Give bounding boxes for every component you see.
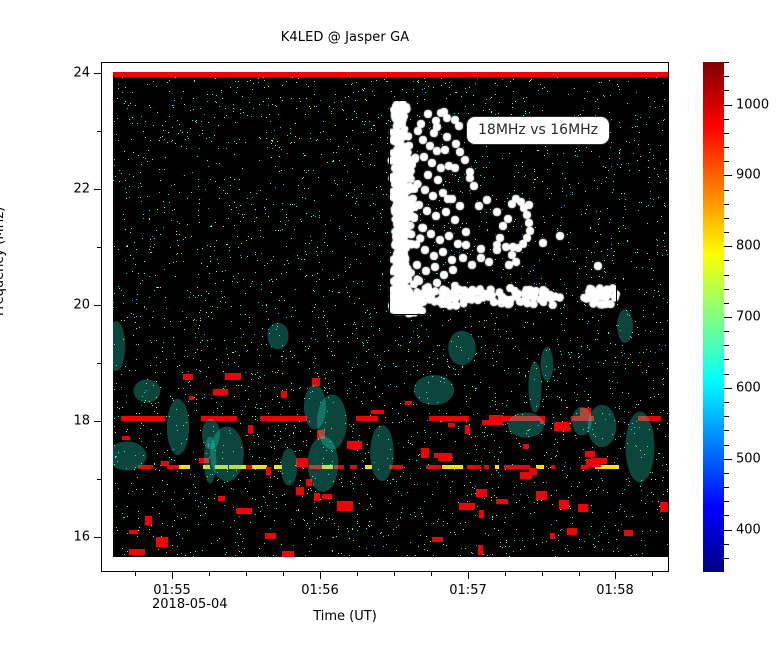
colorbar-minor-tick <box>724 161 729 162</box>
colorbar-major-tick <box>724 175 732 176</box>
colorbar-minor-tick <box>724 260 729 261</box>
colorbar-minor-tick <box>724 345 729 346</box>
colorbar-minor-tick <box>724 501 729 502</box>
x-axis-tick-label: 01:57 <box>449 583 486 598</box>
x-axis-minor-tick <box>357 572 358 576</box>
y-axis-major-tick <box>94 73 101 74</box>
spectrogram-figure: K4LED @ Jasper GA 18MHz vs 16MHz Frequen… <box>0 0 783 656</box>
colorbar-minor-tick <box>724 289 729 290</box>
colorbar-minor-tick <box>724 76 729 77</box>
x-axis-minor-tick <box>505 572 506 576</box>
y-axis-major-tick <box>94 537 101 538</box>
colorbar-minor-tick <box>724 430 729 431</box>
y-axis-minor-tick <box>97 247 101 248</box>
colorbar-major-tick <box>724 246 732 247</box>
y-axis-major-tick <box>94 421 101 422</box>
y-axis-tick-label: 20 <box>73 298 90 313</box>
colorbar-minor-tick <box>724 190 729 191</box>
colorbar-tick-label: 800 <box>736 239 761 254</box>
annotation-label: 18MHz vs 16MHz <box>466 116 610 145</box>
colorbar-tick-label: 900 <box>736 168 761 183</box>
y-axis-minor-tick <box>97 479 101 480</box>
x-axis-minor-tick <box>209 572 210 576</box>
y-axis-minor-tick <box>97 131 101 132</box>
colorbar-minor-tick <box>724 416 729 417</box>
colorbar-tick-label: 400 <box>736 523 761 538</box>
colorbar-minor-tick <box>724 147 729 148</box>
x-axis-minor-tick <box>283 572 284 576</box>
x-axis-minor-tick <box>246 572 247 576</box>
x-axis-minor-tick <box>431 572 432 576</box>
colorbar-minor-tick <box>724 119 729 120</box>
colorbar-minor-tick <box>724 303 729 304</box>
colorbar-minor-tick <box>724 558 729 559</box>
x-axis-label: Time (UT) <box>0 609 690 624</box>
colorbar-major-tick <box>724 388 732 389</box>
colorbar-minor-tick <box>724 204 729 205</box>
colorbar-minor-tick <box>724 90 729 91</box>
colorbar-major-tick <box>724 317 732 318</box>
y-axis-minor-tick <box>97 363 101 364</box>
y-axis-major-tick <box>94 305 101 306</box>
colorbar-minor-tick <box>724 62 729 63</box>
colorbar-minor-tick <box>724 487 729 488</box>
y-axis-tick-label: 16 <box>73 530 90 545</box>
x-axis-tick-label: 01:56 <box>301 583 338 598</box>
colorbar-frame <box>703 62 724 572</box>
colorbar-tick-label: 500 <box>736 452 761 467</box>
colorbar-minor-tick <box>724 374 729 375</box>
colorbar-minor-tick <box>724 359 729 360</box>
x-axis-major-tick <box>320 572 321 579</box>
x-axis-minor-tick <box>542 572 543 576</box>
x-axis-major-tick <box>172 572 173 579</box>
y-axis-major-tick <box>94 189 101 190</box>
y-axis-tick-label: 22 <box>73 182 90 197</box>
colorbar-minor-tick <box>724 402 729 403</box>
x-axis-major-tick <box>468 572 469 579</box>
colorbar-tick-label: 700 <box>736 310 761 325</box>
colorbar-major-tick <box>724 105 732 106</box>
x-axis-minor-tick <box>579 572 580 576</box>
x-axis-major-tick <box>615 572 616 579</box>
colorbar-minor-tick <box>724 133 729 134</box>
colorbar-minor-tick <box>724 218 729 219</box>
colorbar-major-tick <box>724 459 732 460</box>
y-axis-label: Frequency (MHz) <box>0 207 7 316</box>
x-axis-minor-tick <box>394 572 395 576</box>
colorbar-minor-tick <box>724 275 729 276</box>
colorbar-major-tick <box>724 530 732 531</box>
colorbar-tick-label: 600 <box>736 381 761 396</box>
y-axis-tick-label: 24 <box>73 66 90 81</box>
colorbar-minor-tick <box>724 473 729 474</box>
page-title: K4LED @ Jasper GA <box>0 30 690 45</box>
colorbar-minor-tick <box>724 445 729 446</box>
colorbar-tick-label: 1000 <box>736 98 769 113</box>
x-axis-tick-label: 01:55 <box>153 583 190 598</box>
x-axis-minor-tick <box>652 572 653 576</box>
colorbar-minor-tick <box>724 515 729 516</box>
colorbar-minor-tick <box>724 232 729 233</box>
y-axis-tick-label: 18 <box>73 414 90 429</box>
colorbar-minor-tick <box>724 331 729 332</box>
colorbar-minor-tick <box>724 544 729 545</box>
x-axis-tick-label: 01:58 <box>596 583 633 598</box>
x-axis-minor-tick <box>135 572 136 576</box>
